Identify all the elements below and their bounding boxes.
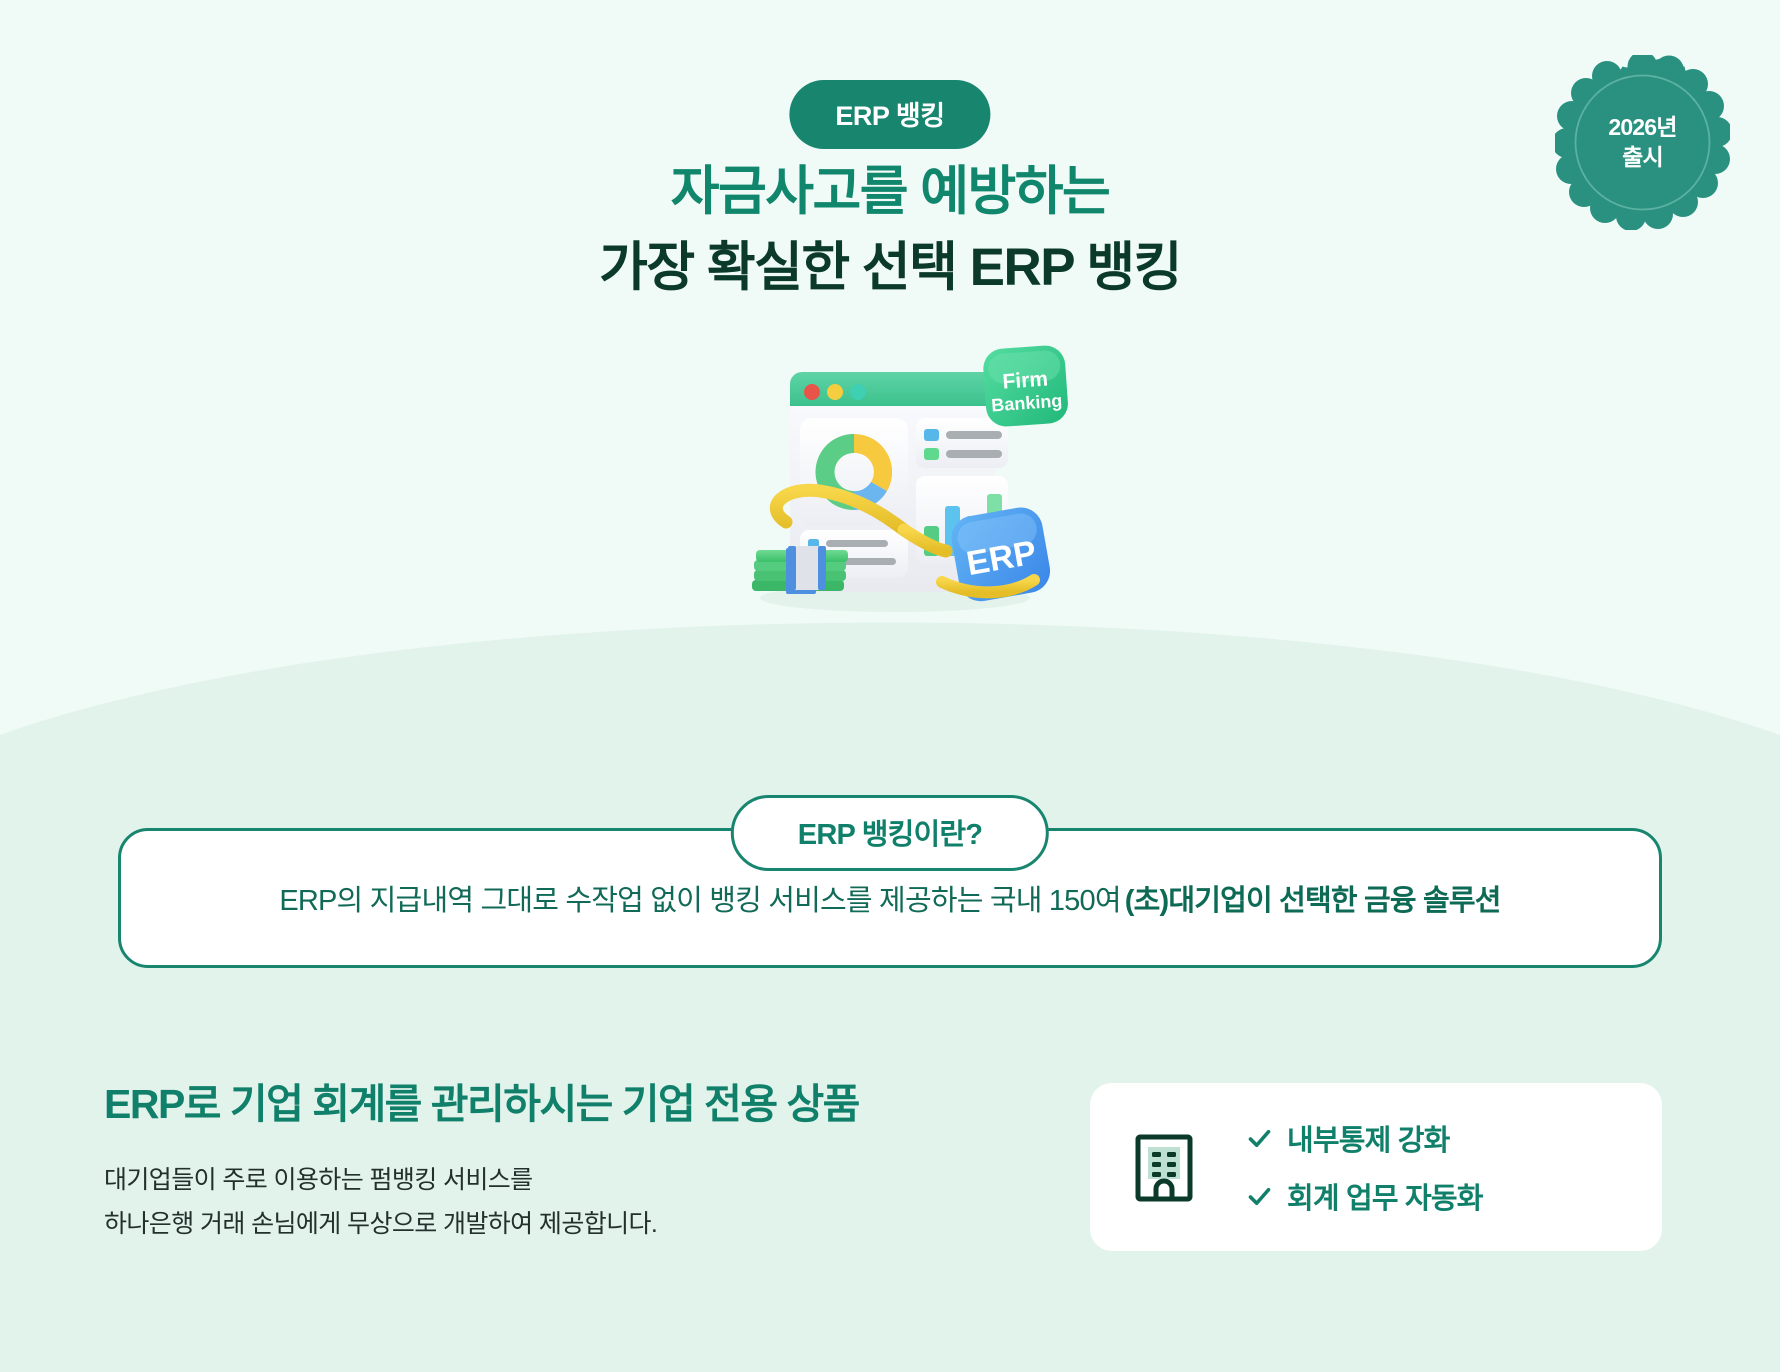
feature-card: 내부통제 강화 회계 업무 자동화 [1090, 1083, 1662, 1251]
product-section: ERP로 기업 회계를 관리하시는 기업 전용 상품 대기업들이 주로 이용하는… [104, 1078, 859, 1247]
definition-text-normal: ERP의 지급내역 그대로 수작업 없이 뱅킹 서비스를 제공하는 국내 150… [279, 877, 1120, 919]
feature-label: 회계 업무 자동화 [1287, 1175, 1483, 1217]
feature-item-internal-control: 내부통제 강화 [1246, 1117, 1483, 1159]
feature-item-accounting-automation: 회계 업무 자동화 [1246, 1175, 1483, 1217]
scallop-badge-icon [1555, 55, 1730, 230]
page-title: 자금사고를 예방하는 가장 확실한 선택 ERP 뱅킹 [0, 158, 1780, 302]
definition-text-strong: (초)대기업이 선택한 금융 솔루션 [1125, 877, 1501, 919]
erp-banking-illustration: Firm Banking ERP [690, 330, 1090, 630]
product-description-line-2: 하나은행 거래 손님에게 무상으로 개발하여 제공합니다. [104, 1203, 859, 1247]
product-title: ERP로 기업 회계를 관리하시는 기업 전용 상품 [104, 1078, 859, 1131]
firm-badge-line1: Firm [1002, 367, 1049, 393]
release-badge: 2026년 출시 [1555, 55, 1730, 230]
building-icon [1132, 1131, 1196, 1203]
check-icon [1246, 1125, 1273, 1152]
product-description-line-1: 대기업들이 주로 이용하는 펌뱅킹 서비스를 [104, 1159, 859, 1203]
headline-line-2: 가장 확실한 선택 ERP 뱅킹 [0, 234, 1780, 302]
category-pill: ERP 뱅킹 [789, 80, 990, 149]
feature-list: 내부통제 강화 회계 업무 자동화 [1246, 1117, 1483, 1217]
product-description: 대기업들이 주로 이용하는 펌뱅킹 서비스를 하나은행 거래 손님에게 무상으로… [104, 1159, 859, 1247]
feature-label: 내부통제 강화 [1287, 1117, 1450, 1159]
check-icon [1246, 1183, 1273, 1210]
definition-tab-label: ERP 뱅킹이란? [731, 795, 1049, 871]
promo-page: ERP 뱅킹 자금사고를 예방하는 가장 확실한 선택 ERP 뱅킹 [0, 0, 1780, 1372]
headline-line-1: 자금사고를 예방하는 [0, 158, 1780, 226]
